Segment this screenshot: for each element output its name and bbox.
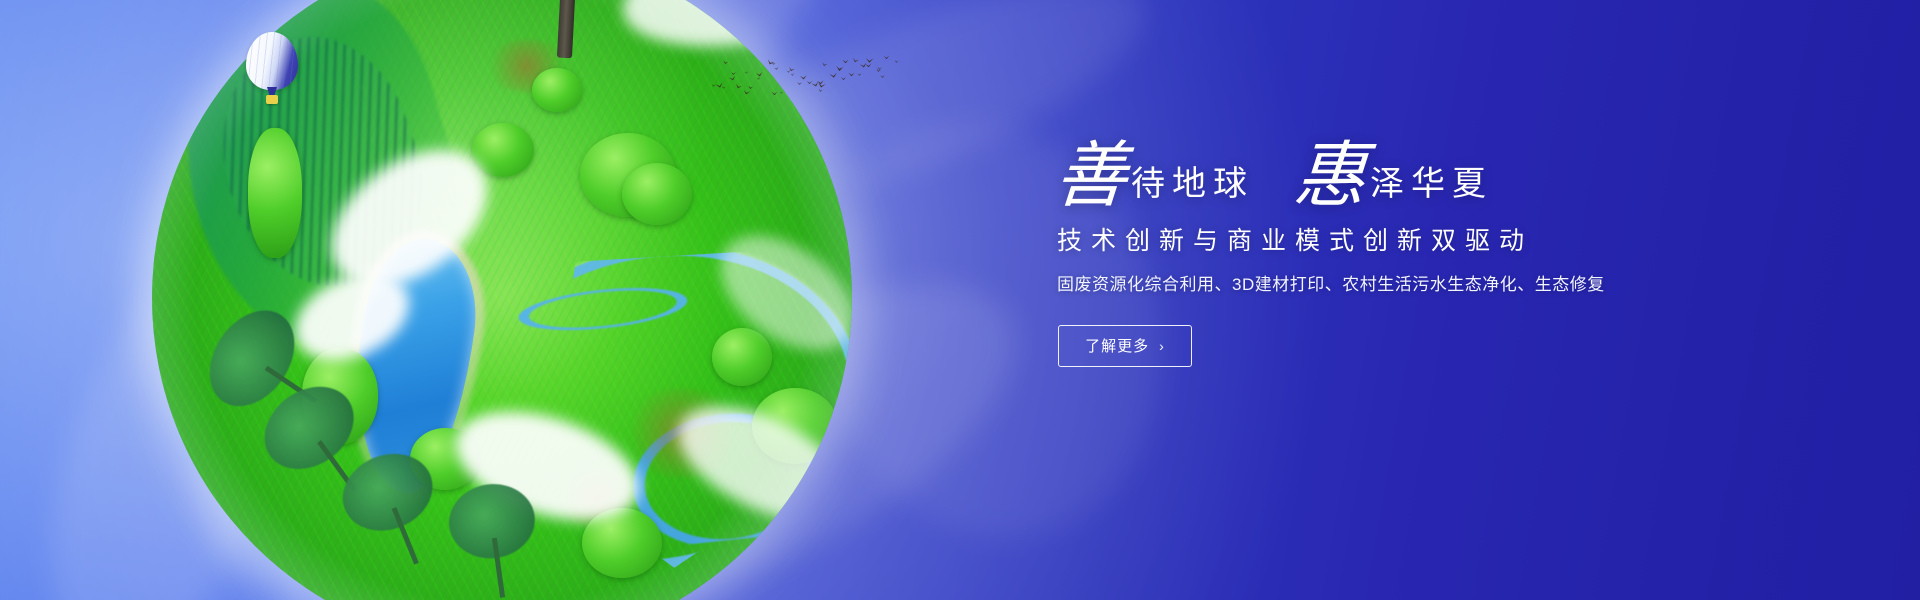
bird-icon: [748, 85, 754, 89]
page-title: 善 待地球 惠 泽华夏: [1055, 140, 1675, 212]
bird-icon: [852, 57, 859, 63]
bird-icon: [807, 80, 813, 84]
bird-icon: [840, 77, 846, 81]
bird-icon: [877, 66, 882, 69]
bird-icon: [771, 91, 777, 95]
tree-cluster: [302, 348, 378, 444]
bird-icon: [788, 66, 795, 71]
bird-icon: [715, 83, 724, 89]
headline-text-2: 泽华夏: [1370, 168, 1493, 212]
dirt-patch: [622, 388, 742, 478]
balloon-envelope: [246, 32, 298, 90]
tree-cluster: [622, 163, 692, 225]
tree-cluster: [472, 123, 534, 177]
lake: [340, 231, 486, 499]
hot-air-balloon-icon: [246, 32, 298, 108]
bird-icon: [860, 63, 867, 68]
bird-icon: [745, 71, 749, 74]
bird-icon: [818, 83, 826, 89]
bird-icon: [800, 75, 807, 80]
chevron-right-icon: ›: [1159, 339, 1165, 353]
tree-cluster: [532, 68, 582, 112]
bird-icon: [817, 80, 824, 85]
tree-cluster: [582, 508, 662, 578]
bird-icon: [829, 73, 837, 79]
learn-more-label: 了解更多: [1085, 335, 1149, 356]
hero-banner: 善 待地球 惠 泽华夏 技术创新与商业模式创新双驱动 固废资源化综合利用、3D建…: [0, 0, 1920, 600]
bird-icon: [812, 82, 820, 88]
bird-icon: [821, 62, 827, 67]
bird-icon: [848, 73, 854, 77]
dirt-patch: [552, 468, 642, 526]
bird-icon: [756, 72, 763, 77]
river: [469, 261, 825, 564]
tree-cluster: [410, 428, 480, 490]
bird-icon: [774, 67, 779, 71]
tree-cluster: [580, 133, 676, 217]
dirt-patch: [482, 40, 572, 92]
silhouette-tree: [243, 362, 394, 519]
bird-icon: [711, 84, 715, 87]
hero-description: 固废资源化综合利用、3D建材打印、农村生活污水生态净化、生态修复: [1057, 272, 1675, 298]
lake-shore: [330, 222, 497, 509]
headline-text-1: 待地球: [1131, 168, 1254, 212]
hero-tree-icon: [452, 0, 682, 58]
bird-icon: [817, 88, 822, 92]
bird-icon: [894, 60, 899, 63]
bird-icon: [880, 75, 885, 78]
tree-cluster: [248, 128, 302, 258]
hero-subtitle: 技术创新与商业模式创新双驱动: [1057, 226, 1675, 256]
bird-icon: [865, 64, 871, 68]
bird-icon: [756, 77, 760, 80]
silhouette-tree: [329, 435, 459, 581]
bird-icon: [797, 82, 802, 85]
hero-copy: 善 待地球 惠 泽华夏 技术创新与商业模式创新双驱动 固废资源化综合利用、3D建…: [1055, 140, 1675, 367]
tree-cluster: [712, 328, 772, 386]
bird-icon: [780, 91, 784, 94]
bird-icon: [766, 59, 774, 65]
tree-trunk: [557, 0, 578, 58]
bird-flock-icon: [712, 50, 902, 106]
learn-more-button[interactable]: 了解更多 ›: [1058, 325, 1192, 367]
bird-icon: [734, 84, 742, 90]
bird-icon: [723, 60, 729, 64]
bird-icon: [731, 72, 736, 75]
bird-icon: [865, 58, 873, 63]
planet-cloud: [281, 257, 422, 377]
silhouette-tree: [179, 286, 345, 445]
planet-cloud: [306, 122, 512, 314]
bird-icon: [842, 59, 848, 63]
bird-icon: [791, 73, 795, 76]
bird-icon: [787, 70, 791, 73]
headline-char-2: 惠: [1291, 140, 1372, 212]
bird-icon: [729, 76, 736, 82]
bird-icon: [857, 73, 861, 76]
silhouette-tree: [445, 483, 545, 600]
bird-icon: [884, 55, 890, 59]
headline-char-1: 善: [1052, 140, 1133, 212]
bird-icon: [742, 90, 749, 95]
planet-cloud: [700, 213, 852, 374]
bird-icon: [721, 86, 725, 89]
planet-cloud: [442, 391, 652, 541]
balloon-basket: [266, 95, 278, 104]
